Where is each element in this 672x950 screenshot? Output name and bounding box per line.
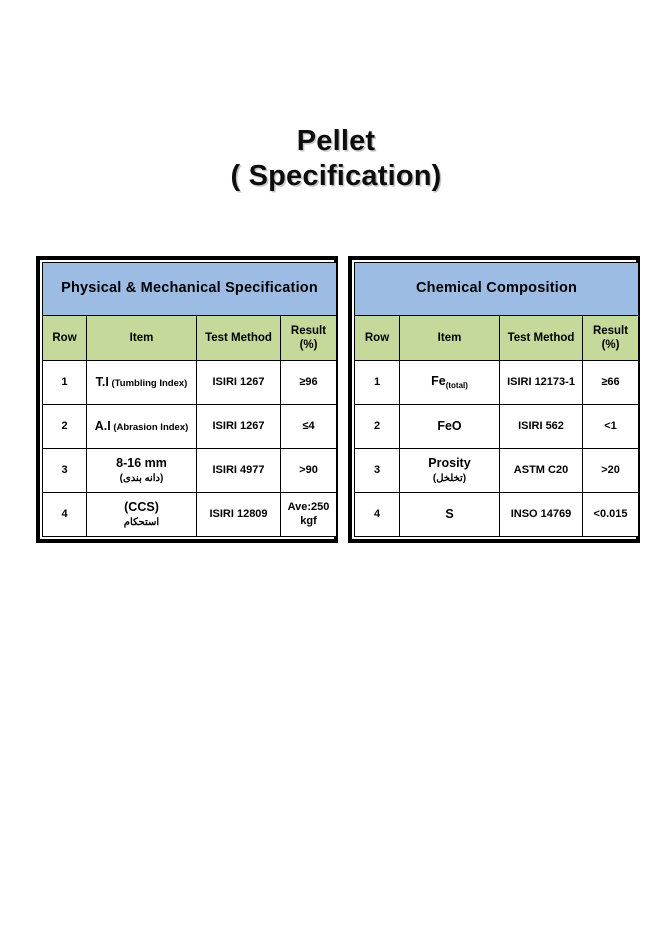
right-header-result-line1: Result	[584, 324, 637, 338]
right-row3-result: >20	[583, 449, 639, 493]
left-row3-item-main: 8-16 mm	[88, 456, 195, 471]
table-row: 2 A.I (Abrasion Index) ISIRI 1267 ≤4	[43, 405, 337, 449]
table-row: 1 T.I (Tumbling Index) ISIRI 1267 ≥96	[43, 361, 337, 405]
physical-mechanical-specification-table: Physical & Mechanical Specification Row …	[36, 256, 338, 543]
table-row: 4 (CCS) استحکام ISIRI 12809 Ave:250 kgf	[43, 493, 337, 537]
right-row4-number: 4	[355, 493, 400, 537]
right-row3-item: Prosity (تخلخل)	[400, 449, 500, 493]
left-table-banner: Physical & Mechanical Specification	[43, 263, 337, 316]
right-row4-item: S	[400, 493, 500, 537]
left-header-test-method: Test Method	[197, 316, 281, 361]
right-header-test-method: Test Method	[500, 316, 583, 361]
left-header-result-line2: (%)	[282, 338, 335, 352]
left-row3-result: >90	[281, 449, 337, 493]
left-row2-item-main: A.I	[95, 419, 111, 433]
left-header-result-line1: Result	[282, 324, 335, 338]
right-row2-item: FeO	[400, 405, 500, 449]
right-row1-number: 1	[355, 361, 400, 405]
left-row1-number: 1	[43, 361, 87, 405]
table-row: 2 FeO ISIRI 562 <1	[355, 405, 639, 449]
right-row2-result: <1	[583, 405, 639, 449]
left-row3-test-method: ISIRI 4977	[197, 449, 281, 493]
title-line-1: Pellet	[0, 124, 672, 159]
left-row4-item: (CCS) استحکام	[87, 493, 197, 537]
right-row3-test-method: ASTM C20	[500, 449, 583, 493]
right-row1-item: Fe(total)	[400, 361, 500, 405]
table-row: 3 Prosity (تخلخل) ASTM C20 >20	[355, 449, 639, 493]
left-row4-result: Ave:250 kgf	[281, 493, 337, 537]
right-row1-test-method: ISIRI 12173-1	[500, 361, 583, 405]
left-row2-number: 2	[43, 405, 87, 449]
left-row4-result-line1: Ave:250	[282, 501, 335, 514]
left-row1-item-small: (Tumbling Index)	[109, 378, 187, 389]
right-row4-result: <0.015	[583, 493, 639, 537]
left-row4-item-sub: استحکام	[88, 517, 195, 529]
table-banner-row: Physical & Mechanical Specification	[43, 263, 337, 316]
left-header-row: Row	[43, 316, 87, 361]
left-row4-number: 4	[43, 493, 87, 537]
left-row3-item-sub: (دانه بندی)	[88, 473, 195, 485]
left-row1-item-main: T.I	[96, 375, 109, 389]
title-line-2: ( Specification)	[0, 159, 672, 194]
right-row2-test-method: ISIRI 562	[500, 405, 583, 449]
right-row1-item-main: Fe	[431, 374, 446, 388]
left-row4-test-method: ISIRI 12809	[197, 493, 281, 537]
left-row3-number: 3	[43, 449, 87, 493]
table-header-row: Row Item Test Method Result (%)	[43, 316, 337, 361]
table-row: 4 S INSO 14769 <0.015	[355, 493, 639, 537]
table-row: 3 8-16 mm (دانه بندی) ISIRI 4977 >90	[43, 449, 337, 493]
right-row3-item-main: Prosity	[401, 456, 498, 471]
right-row1-result: ≥66	[583, 361, 639, 405]
page-title: Pellet ( Specification)	[0, 124, 672, 195]
left-row1-test-method: ISIRI 1267	[197, 361, 281, 405]
left-row1-result: ≥96	[281, 361, 337, 405]
left-header-result: Result (%)	[281, 316, 337, 361]
right-row2-number: 2	[355, 405, 400, 449]
table-banner-row: Chemical Composition	[355, 263, 639, 316]
right-row1-item-subscript: (total)	[446, 381, 468, 390]
right-header-row: Row	[355, 316, 400, 361]
right-row2-item-main: FeO	[437, 419, 461, 433]
left-row4-item-main: (CCS)	[88, 500, 195, 515]
left-row4-result-line2: kgf	[282, 515, 335, 528]
specification-tables-area: Physical & Mechanical Specification Row …	[36, 256, 640, 543]
table-header-row: Row Item Test Method Result (%)	[355, 316, 639, 361]
right-header-result: Result (%)	[583, 316, 639, 361]
left-row2-item-small: (Abrasion Index)	[111, 422, 189, 433]
left-row2-item: A.I (Abrasion Index)	[87, 405, 197, 449]
table-row: 1 Fe(total) ISIRI 12173-1 ≥66	[355, 361, 639, 405]
left-row2-result: ≤4	[281, 405, 337, 449]
right-row3-item-sub: (تخلخل)	[401, 473, 498, 485]
right-header-result-line2: (%)	[584, 338, 637, 352]
right-row4-item-main: S	[445, 507, 453, 521]
chemical-composition-table: Chemical Composition Row Item Test Metho…	[348, 256, 640, 543]
left-header-item: Item	[87, 316, 197, 361]
right-header-item: Item	[400, 316, 500, 361]
right-row3-number: 3	[355, 449, 400, 493]
right-table-banner: Chemical Composition	[355, 263, 639, 316]
right-row4-test-method: INSO 14769	[500, 493, 583, 537]
left-row3-item: 8-16 mm (دانه بندی)	[87, 449, 197, 493]
left-row2-test-method: ISIRI 1267	[197, 405, 281, 449]
left-row1-item: T.I (Tumbling Index)	[87, 361, 197, 405]
